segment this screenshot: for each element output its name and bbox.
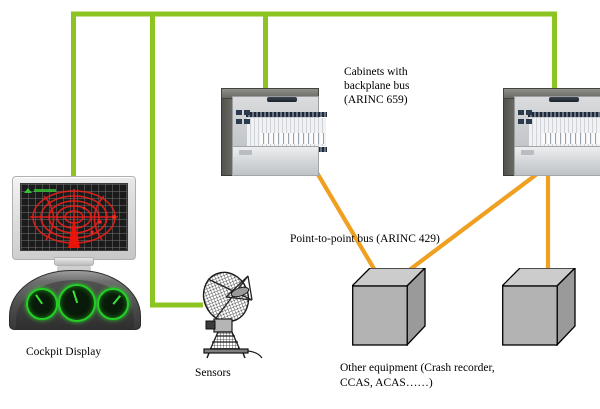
cabinet-connector: [518, 119, 524, 124]
gauge-needle: [35, 295, 43, 305]
cabinet-carry-handle: [549, 97, 579, 102]
cockpit-display-monitor: [12, 176, 134, 266]
gauge-speed-icon: [58, 284, 96, 322]
cockpit-gauge-cluster: [9, 266, 139, 330]
label-other-equipment: Other equipment (Crash recorder, CCAS, A…: [340, 361, 495, 391]
diagram-canvas: Cabinets with backplane bus (ARINC 659) …: [0, 0, 600, 409]
cabinet-connector: [236, 119, 242, 124]
avionics-cabinet-right: [503, 88, 599, 174]
cabinet-nameplate: [521, 150, 534, 155]
cabinet-connector: [244, 119, 250, 124]
radar-sweep-icon: [22, 186, 126, 250]
label-sensors: Sensors: [195, 366, 231, 380]
cabinet-connector: [518, 110, 524, 115]
cabinet-card-cage: [232, 96, 319, 147]
gauge-needle: [112, 295, 120, 304]
label-cabinets-backplane-bus: Cabinets with backplane bus (ARINC 659): [344, 65, 409, 107]
cabinet-connector: [526, 110, 532, 115]
cabinet-carry-handle: [267, 97, 297, 102]
cabinet-module-handles: [542, 133, 600, 144]
equipment-cube-right: [502, 268, 576, 346]
cabinet-nameplate: [239, 150, 252, 155]
p2p-link-cabinet-left-to-cube-left: [313, 166, 383, 284]
sensor-radar-dish-icon: [196, 270, 268, 360]
gauge-fuel-icon: [26, 288, 58, 320]
equipment-cube-left: [352, 268, 426, 346]
cluster-housing: [9, 270, 141, 330]
label-cockpit-display: Cockpit Display: [26, 345, 101, 359]
monitor-stand: [54, 257, 94, 266]
monitor-bezel: [12, 176, 136, 260]
cabinet-backplane-rail-top: [246, 112, 327, 117]
gauge-tacho-icon: [97, 288, 129, 320]
cabinet-backplane-rail-top: [528, 112, 600, 117]
cabinet-card-cage: [514, 96, 600, 147]
p2p-link-cabinet-right-to-cube-left: [392, 168, 545, 283]
monitor-brand-logo: [24, 187, 58, 194]
label-point-to-point-bus: Point-to-point bus (ARINC 429): [290, 232, 440, 246]
cabinet-module-handles: [260, 133, 324, 144]
cabinet-connector: [236, 110, 242, 115]
cabinet-connector: [526, 119, 532, 124]
avionics-cabinet-left: [221, 88, 317, 174]
cabinet-connector: [244, 110, 250, 115]
gauge-needle: [72, 290, 77, 303]
